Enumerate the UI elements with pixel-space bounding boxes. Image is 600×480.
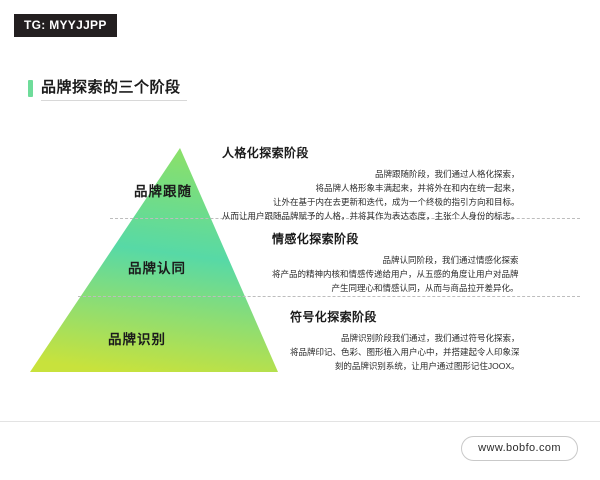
block-line: 产生同理心和情感认同，从而与商品拉开差异化。 [272, 281, 519, 295]
block-line: 将品牌人格形象丰满起来，并将外在和内在统一起来， [222, 181, 520, 195]
text-block-emotional: 情感化探索阶段 品牌认同阶段，我们通过情感化探索 将产品的精神内核和情感传递给用… [272, 230, 519, 295]
page-title-text: 品牌探索的三个阶段 [41, 76, 187, 101]
text-block-symbolic: 符号化探索阶段 品牌识别阶段我们通过，我们通过符号化探索， 将品牌印记、色彩、图… [290, 308, 520, 373]
block-body-symbolic: 品牌识别阶段我们通过，我们通过符号化探索， 将品牌印记、色彩、图形植入用户心中，… [290, 331, 520, 373]
block-line: 品牌跟随阶段，我们通过人格化探索， [222, 167, 520, 181]
tg-tag: TG: MYYJJPP [14, 14, 117, 37]
block-heading-symbolic: 符号化探索阶段 [290, 308, 520, 325]
block-line: 从而让用户跟随品牌赋予的人格，并将其作为表达态度，主张个人身份的标志。 [222, 209, 520, 223]
title-accent-bar [28, 80, 33, 97]
block-line: 品牌认同阶段，我们通过情感化探索 [272, 253, 519, 267]
footer-url[interactable]: www.bobfo.com [461, 436, 578, 461]
block-heading-personification: 人格化探索阶段 [222, 144, 520, 161]
tier-divider-2 [78, 296, 580, 297]
tier-label-brand-recognition: 品牌识别 [108, 328, 166, 348]
block-body-personification: 品牌跟随阶段，我们通过人格化探索， 将品牌人格形象丰满起来，并将外在和内在统一起… [222, 167, 520, 223]
page-title: 品牌探索的三个阶段 [28, 76, 187, 101]
tier-label-brand-identification: 品牌认同 [128, 257, 186, 277]
block-line: 让外在基于内在去更新和迭代，成为一个终极的指引方向和目标。 [222, 195, 520, 209]
block-heading-emotional: 情感化探索阶段 [272, 230, 519, 247]
block-line: 将品牌印记、色彩、图形植入用户心中，并搭建起令人印象深 [290, 345, 520, 359]
tier-label-brand-following: 品牌跟随 [134, 180, 192, 200]
block-line: 刻的品牌识别系统，让用户通过图形记住JOOX。 [290, 359, 520, 373]
text-block-personification: 人格化探索阶段 品牌跟随阶段，我们通过人格化探索， 将品牌人格形象丰满起来，并将… [222, 144, 520, 223]
footer: www.bobfo.com [0, 421, 600, 480]
block-body-emotional: 品牌认同阶段，我们通过情感化探索 将产品的精神内核和情感传递给用户，从五感的角度… [272, 253, 519, 295]
pyramid-diagram: 品牌跟随 品牌认同 品牌识别 人格化探索阶段 品牌跟随阶段，我们通过人格化探索，… [0, 118, 600, 378]
block-line: 品牌识别阶段我们通过，我们通过符号化探索， [290, 331, 520, 345]
block-line: 将产品的精神内核和情感传递给用户，从五感的角度让用户对品牌 [272, 267, 519, 281]
